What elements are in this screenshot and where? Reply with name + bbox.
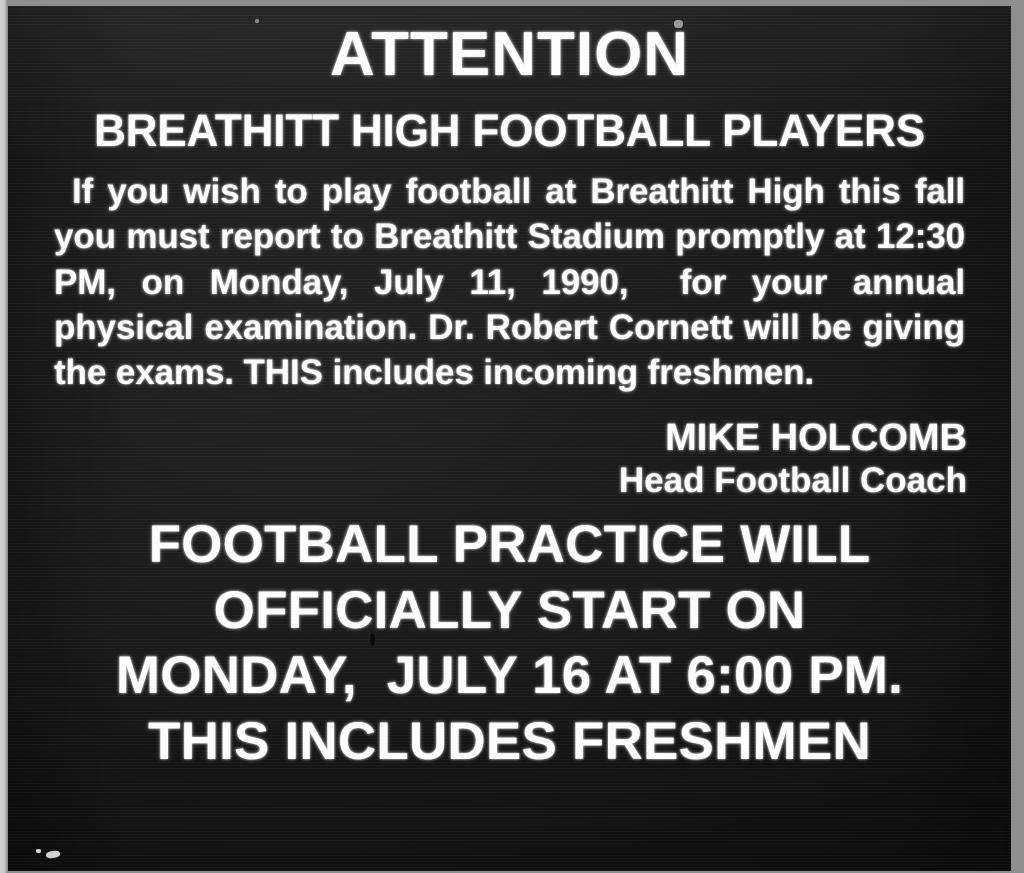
headline-attention: ATTENTION <box>46 24 973 86</box>
signature-name: MIKE HOLCOMB <box>46 418 967 459</box>
body-paragraph-text: If you wish to play football at Breathit… <box>54 172 975 392</box>
sign-content: ATTENTION BREATHITT HIGH FOOTBALL PLAYER… <box>8 24 1011 775</box>
dust-speck <box>46 850 61 859</box>
signature-title: Head Football Coach <box>46 461 967 500</box>
dust-speck <box>255 19 259 23</box>
practice-announcement-block: FOOTBALL PRACTICE WILL OFFICIALLY START … <box>46 512 973 775</box>
subheadline-audience: BREATHITT HIGH FOOTBALL PLAYERS <box>55 108 963 153</box>
body-paragraph: If you wish to play football at Breathit… <box>46 169 973 396</box>
sign-board: ATTENTION BREATHITT HIGH FOOTBALL PLAYER… <box>8 6 1011 871</box>
signature-block: MIKE HOLCOMB Head Football Coach <box>46 418 973 500</box>
announcement-line-4: THIS INCLUDES FRESHMEN <box>46 709 973 775</box>
announcement-sign-photo: ATTENTION BREATHITT HIGH FOOTBALL PLAYER… <box>0 0 1024 873</box>
dust-speck <box>36 849 41 853</box>
announcement-line-1: FOOTBALL PRACTICE WILL <box>46 512 973 578</box>
announcement-line-3: MONDAY, JULY 16 AT 6:00 PM. <box>46 643 973 709</box>
announcement-line-2: OFFICIALLY START ON <box>46 578 973 644</box>
